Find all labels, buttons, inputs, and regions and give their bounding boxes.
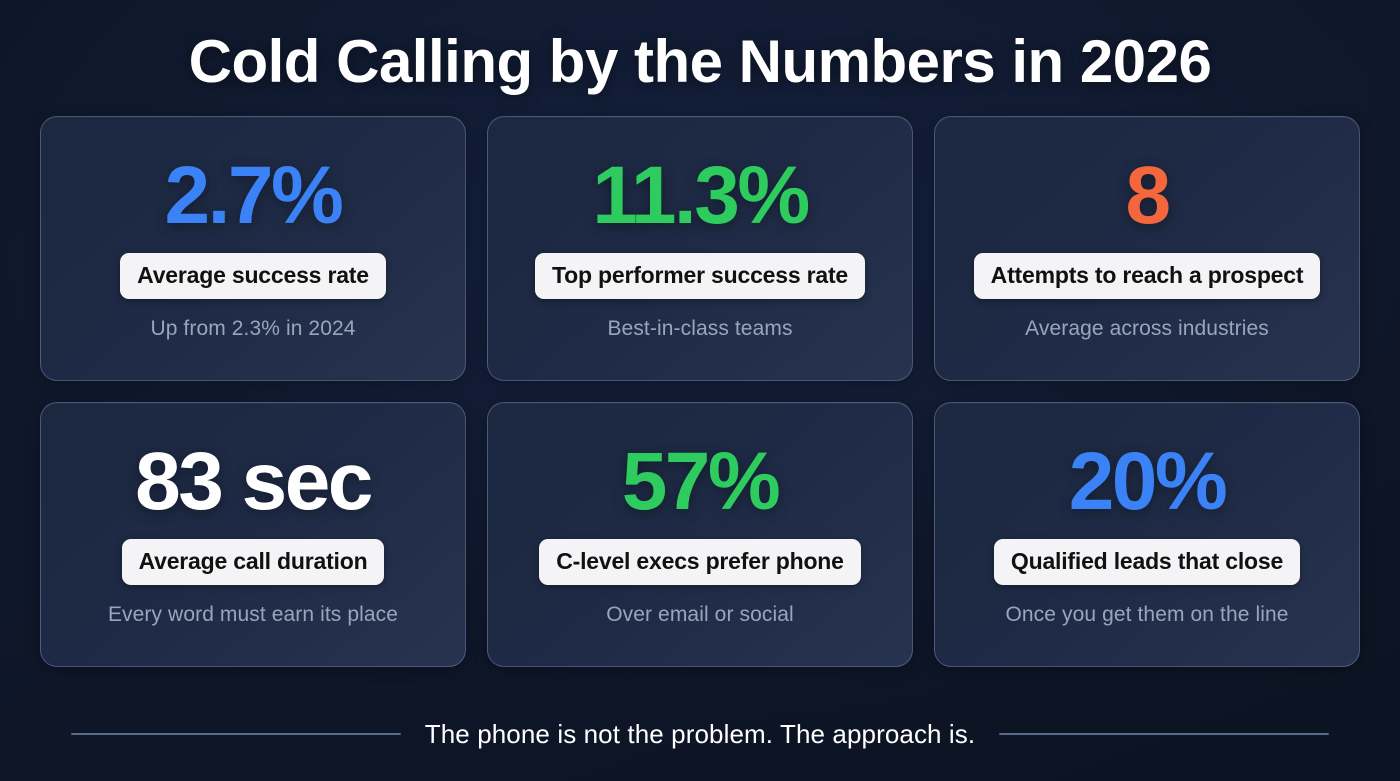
infographic-page: Cold Calling by the Numbers in 2026 2.7%… — [0, 0, 1400, 781]
footer-tagline: The phone is not the problem. The approa… — [425, 719, 975, 750]
stat-note: Once you get them on the line — [1005, 602, 1288, 627]
stat-value: 83 sec — [135, 441, 371, 523]
stat-value: 8 — [1125, 155, 1168, 237]
stat-card-grid: 2.7% Average success rate Up from 2.3% i… — [40, 116, 1360, 667]
stat-label-pill: Attempts to reach a prospect — [974, 253, 1321, 299]
footer-rule-right — [999, 733, 1329, 735]
stat-card-attempts-to-reach-a-prospect: 8 Attempts to reach a prospect Average a… — [934, 116, 1360, 381]
stat-label-pill: Average call duration — [122, 539, 385, 585]
stat-card-average-success-rate: 2.7% Average success rate Up from 2.3% i… — [40, 116, 466, 381]
stat-label-pill: Top performer success rate — [535, 253, 865, 299]
stat-label-pill: Average success rate — [120, 253, 386, 299]
footer-rule-left — [71, 733, 401, 735]
stat-card-qualified-leads-that-close: 20% Qualified leads that close Once you … — [934, 402, 1360, 667]
footer: The phone is not the problem. The approa… — [40, 701, 1360, 781]
page-title: Cold Calling by the Numbers in 2026 — [40, 30, 1360, 94]
stat-note: Every word must earn its place — [108, 602, 398, 627]
stat-note: Up from 2.3% in 2024 — [150, 316, 355, 341]
stat-label-pill: Qualified leads that close — [994, 539, 1300, 585]
stat-value: 57% — [622, 441, 779, 523]
stat-card-top-performer-success-rate: 11.3% Top performer success rate Best-in… — [487, 116, 913, 381]
stat-note: Over email or social — [606, 602, 794, 627]
stat-card-c-level-execs-prefer-phone: 57% C-level execs prefer phone Over emai… — [487, 402, 913, 667]
stat-label-pill: C-level execs prefer phone — [539, 539, 861, 585]
stat-note: Average across industries — [1025, 316, 1269, 341]
stat-card-average-call-duration: 83 sec Average call duration Every word … — [40, 402, 466, 667]
stat-value: 11.3% — [592, 155, 807, 237]
stat-value: 20% — [1069, 441, 1226, 523]
stat-value: 2.7% — [165, 155, 342, 237]
stat-note: Best-in-class teams — [607, 316, 792, 341]
